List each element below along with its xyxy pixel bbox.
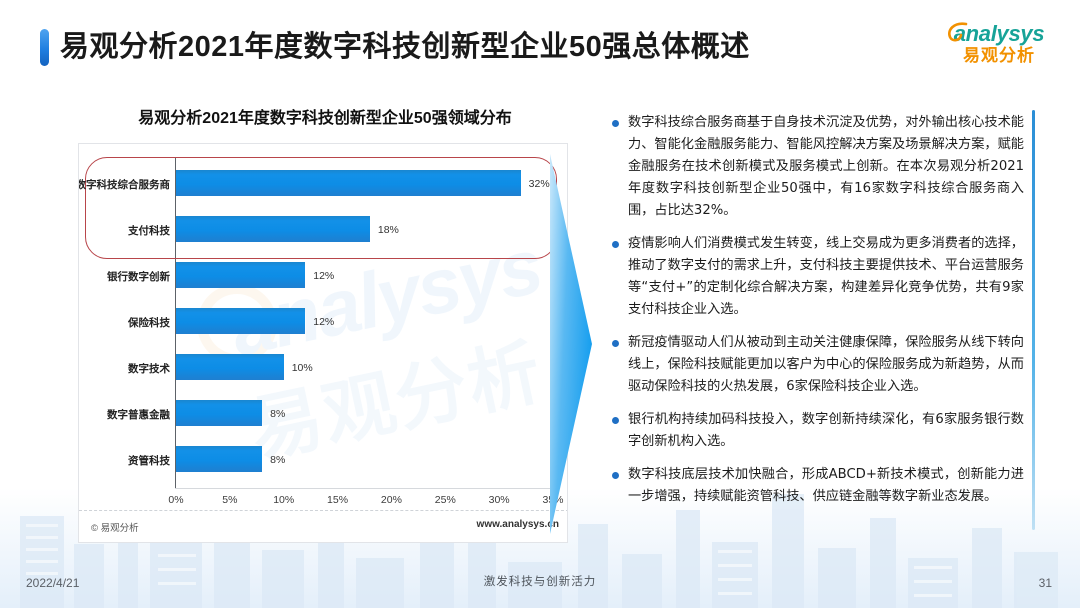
brand-logo: analysys 易观分析: [940, 22, 1058, 76]
right-accent-rule: [1032, 110, 1035, 530]
x-tick-label: 30%: [479, 494, 519, 506]
bullet-dot-icon: [612, 472, 619, 479]
bar-category-label: 数字科技综合服务商: [78, 177, 170, 192]
bullet-text: 数字科技底层技术加快融合，形成ABCD+新技术模式，创新能力进一步增强，持续赋能…: [628, 464, 1024, 508]
x-tick-label: 0%: [156, 494, 196, 506]
title-accent-bar: [40, 29, 49, 66]
bar-category-label: 数字普惠金融: [78, 407, 170, 422]
bar-category-label: 保险科技: [78, 315, 170, 330]
bar: [176, 400, 262, 426]
x-tick-label: 5%: [210, 494, 250, 506]
bullet-list: 数字科技综合服务商基于自身技术沉淀及优势，对外输出核心技术能力、智能化金融服务能…: [612, 112, 1024, 519]
bar-value-label: 10%: [292, 362, 313, 374]
page-header: 易观分析2021年度数字科技创新型企业50强总体概述 analysys 易观分析: [0, 0, 1080, 86]
logo-swoosh-icon: [946, 20, 970, 44]
bullet-item: 数字科技底层技术加快融合，形成ABCD+新技术模式，创新能力进一步增强，持续赋能…: [612, 464, 1024, 508]
bullet-item: 银行机构持续加码科技投入，数字创新持续深化，有6家服务银行数字创新机构入选。: [612, 409, 1024, 453]
bar: [176, 308, 305, 334]
brand-name-cn: 易观分析: [940, 46, 1058, 66]
bar-category-label: 支付科技: [78, 223, 170, 238]
bar-value-label: 8%: [270, 454, 285, 466]
x-axis-line: [175, 488, 552, 489]
bullet-text: 数字科技综合服务商基于自身技术沉淀及优势，对外输出核心技术能力、智能化金融服务能…: [628, 112, 1024, 222]
copyright-text: © 易观分析: [91, 520, 139, 534]
bullet-text: 新冠疫情驱动人们从被动到主动关注健康保障，保险服务从线下转向线上，保险科技赋能更…: [628, 332, 1024, 398]
source-url: www.analysys.cn: [477, 519, 559, 530]
bullet-dot-icon: [612, 340, 619, 347]
bar-value-label: 18%: [378, 224, 399, 236]
bar: [176, 354, 284, 380]
bar-category-label: 数字技术: [78, 361, 170, 376]
bar-value-label: 32%: [529, 178, 550, 190]
x-tick-label: 15%: [318, 494, 358, 506]
page-title: 易观分析2021年度数字科技创新型企业50强总体概述: [60, 27, 750, 67]
x-tick-label: 25%: [425, 494, 465, 506]
bullet-item: 疫情影响人们消费模式发生转变，线上交易成为更多消费者的选择，推动了数字支付的需求…: [612, 233, 1024, 321]
bar-category-label: 银行数字创新: [78, 269, 170, 284]
bar-value-label: 12%: [313, 270, 334, 282]
x-tick-label: 10%: [264, 494, 304, 506]
chart-card-footer: © 易观分析 www.analysys.cn: [79, 510, 568, 542]
flow-arrow-icon: [548, 150, 596, 538]
bullet-item: 数字科技综合服务商基于自身技术沉淀及优势，对外输出核心技术能力、智能化金融服务能…: [612, 112, 1024, 222]
bar-value-label: 12%: [313, 316, 334, 328]
chart-card: analysys 易观分析 32%18%12%12%10%8%8% 0%5%10…: [78, 143, 568, 543]
bar-category-label: 资管科技: [78, 453, 170, 468]
bar: [176, 216, 370, 242]
footer-page-number: 31: [1039, 576, 1052, 590]
footer-slogan: 激发科技与创新活力: [0, 573, 1080, 589]
bullet-dot-icon: [612, 241, 619, 248]
bar: [176, 170, 521, 196]
bullet-dot-icon: [612, 417, 619, 424]
bar: [176, 262, 305, 288]
x-tick-label: 20%: [371, 494, 411, 506]
bullet-dot-icon: [612, 120, 619, 127]
bar-value-label: 8%: [270, 408, 285, 420]
chart-plot-area: 32%18%12%12%10%8%8% 0%5%10%15%20%25%30%3…: [79, 144, 568, 512]
bullet-text: 银行机构持续加码科技投入，数字创新持续深化，有6家服务银行数字创新机构入选。: [628, 409, 1024, 453]
chart-title: 易观分析2021年度数字科技创新型企业50强领域分布: [60, 104, 590, 128]
bullet-item: 新冠疫情驱动人们从被动到主动关注健康保障，保险服务从线下转向线上，保险科技赋能更…: [612, 332, 1024, 398]
bar: [176, 446, 262, 472]
bullet-text: 疫情影响人们消费模式发生转变，线上交易成为更多消费者的选择，推动了数字支付的需求…: [628, 233, 1024, 321]
